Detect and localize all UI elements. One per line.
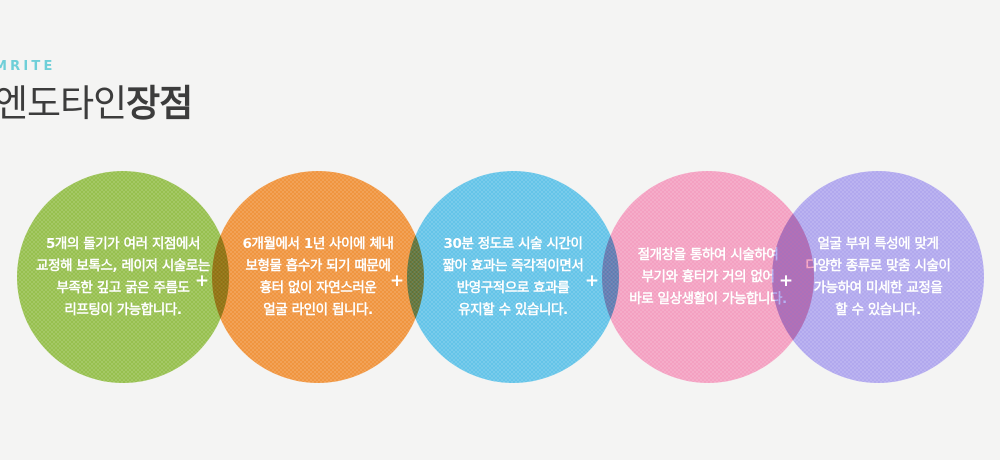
benefit-circle-2-text: 6개월에서 1년 사이에 체내 보형물 흡수가 되기 때문에 흉터 없이 자연스… xyxy=(218,233,418,321)
benefit-circle-5-text: 얼굴 부위 특성에 맞게 다양한 종류로 맞춤 시술이 가능하여 미세한 교정을… xyxy=(778,233,978,321)
benefit-circle-group: 5개의 돌기가 여러 지점에서 교정해 보톡스, 레이저 시술로는 부족한 깊고… xyxy=(0,0,1000,460)
benefit-line: 리프팅이 가능합니다. xyxy=(23,299,223,321)
benefit-line: 얼굴 라인이 됩니다. xyxy=(218,299,418,321)
benefit-line: 할 수 있습니다. xyxy=(778,299,978,321)
benefit-line: 부족한 깊고 굵은 주름도 xyxy=(23,277,223,299)
benefit-line: 가능하여 미세한 교정을 xyxy=(778,277,978,299)
plus-connector-icon-4: + xyxy=(778,273,794,289)
benefit-line: 유지할 수 있습니다. xyxy=(413,299,613,321)
page-root: MRITE 엔도타인장점 5개의 돌기가 여러 지점에서 교정해 보톡스, 레이… xyxy=(0,0,1000,460)
plus-connector-icon-1: + xyxy=(194,273,210,289)
benefit-line: 흉터 없이 자연스러운 xyxy=(218,277,418,299)
benefit-line: 다양한 종류로 맞춤 시술이 xyxy=(778,255,978,277)
benefit-line: 5개의 돌기가 여러 지점에서 xyxy=(23,233,223,255)
plus-connector-icon-3: + xyxy=(584,273,600,289)
benefit-line: 반영구적으로 효과를 xyxy=(413,277,613,299)
benefit-line: 교정해 보톡스, 레이저 시술로는 xyxy=(23,255,223,277)
benefit-line: 보형물 흡수가 되기 때문에 xyxy=(218,255,418,277)
benefit-circle-5: 얼굴 부위 특성에 맞게 다양한 종류로 맞춤 시술이 가능하여 미세한 교정을… xyxy=(772,171,984,383)
benefit-circle-3-text: 30분 정도로 시술 시간이 짧아 효과는 즉각적이면서 반영구적으로 효과를 … xyxy=(413,233,613,321)
benefit-circle-1-text: 5개의 돌기가 여러 지점에서 교정해 보톡스, 레이저 시술로는 부족한 깊고… xyxy=(23,233,223,321)
benefit-line: 얼굴 부위 특성에 맞게 xyxy=(778,233,978,255)
plus-connector-icon-2: + xyxy=(389,273,405,289)
benefit-line: 30분 정도로 시술 시간이 xyxy=(413,233,613,255)
benefit-line: 6개월에서 1년 사이에 체내 xyxy=(218,233,418,255)
benefit-line: 짧아 효과는 즉각적이면서 xyxy=(413,255,613,277)
